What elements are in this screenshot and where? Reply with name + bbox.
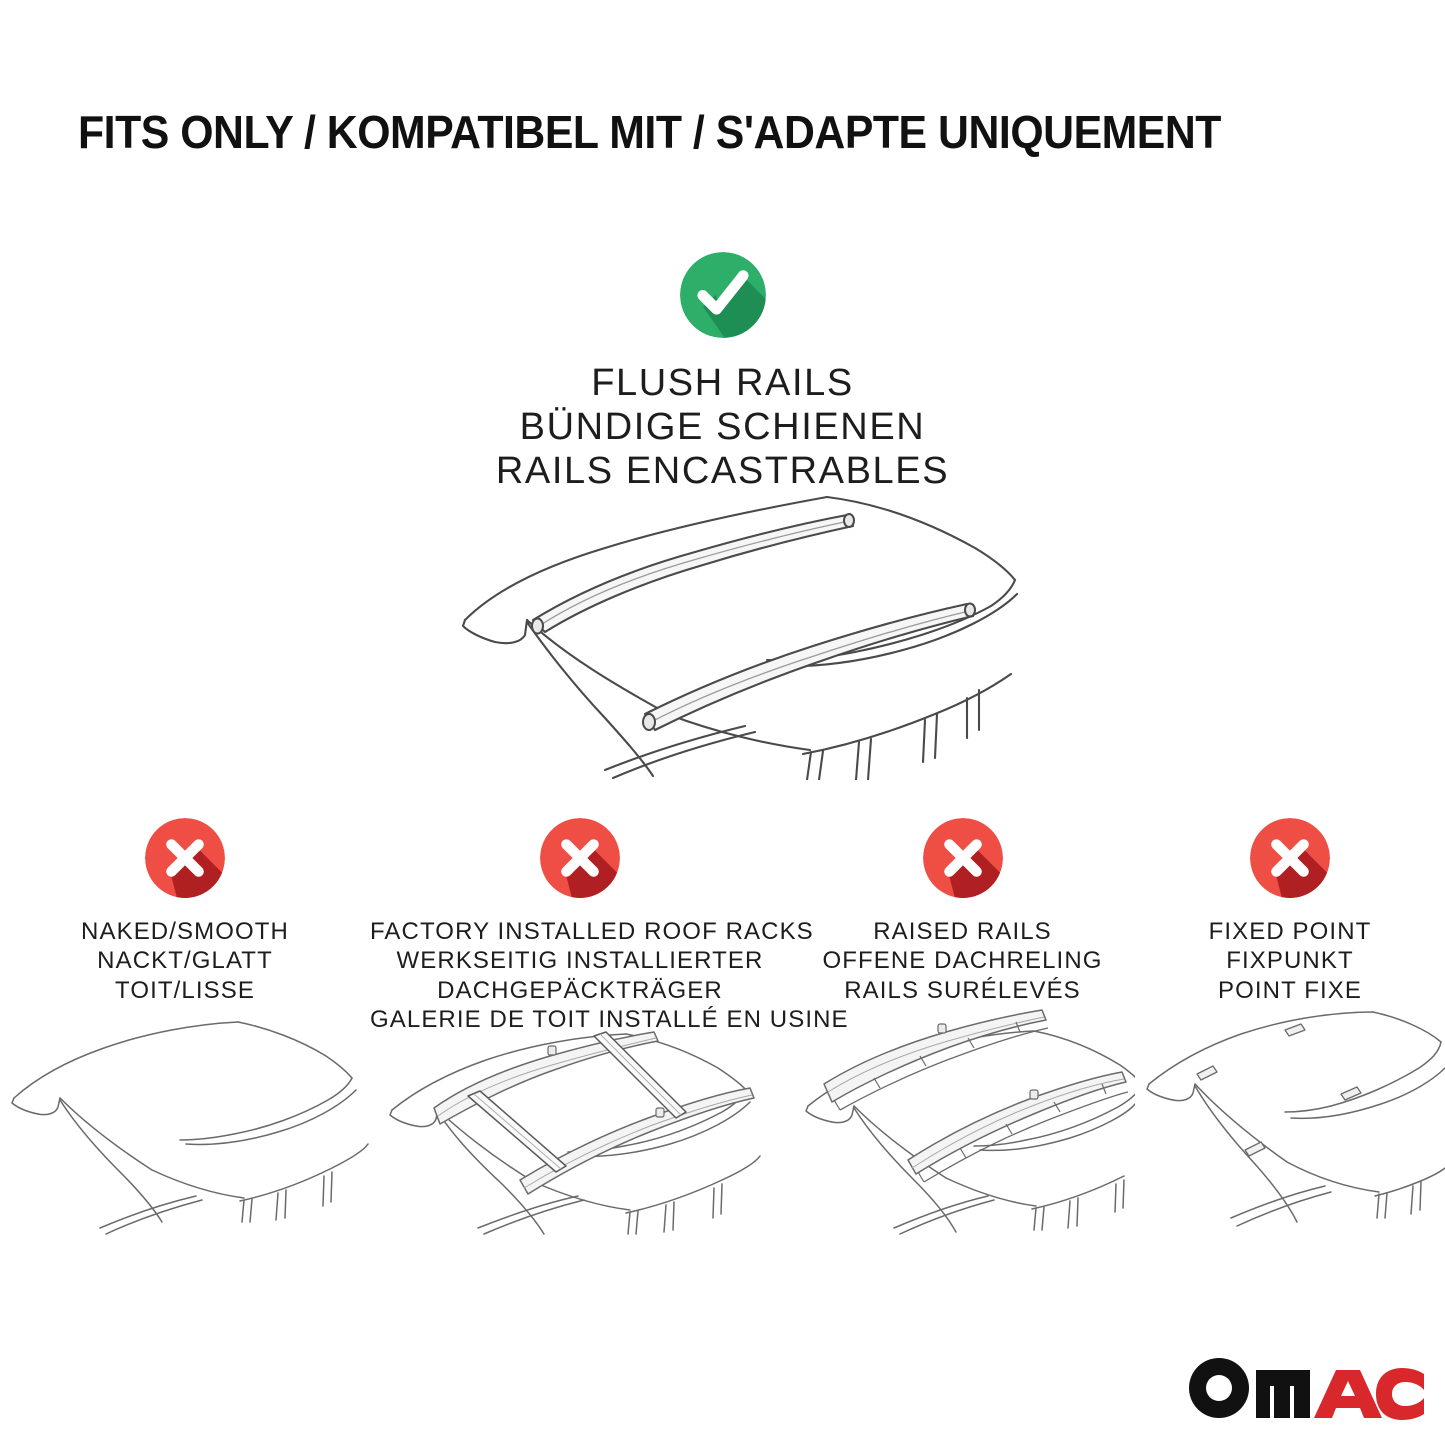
fixed-point-pad <box>1197 1066 1217 1080</box>
incompatible-label-en: NAKED/SMOOTH <box>0 917 370 946</box>
incompatible-label-de-1: WERKSEITIG INSTALLIERTER <box>370 946 790 975</box>
car-roof-bare-illustration <box>0 1000 370 1235</box>
incompatible-item-fixed-point: FIXED POINT FIXPUNKT POINT FIXE <box>1135 818 1445 1005</box>
incompatible-item-naked-smooth: NAKED/SMOOTH NACKT/GLATT TOIT/LISSE <box>0 818 370 1005</box>
logo-letter-c <box>1376 1368 1424 1420</box>
compatible-section: FLUSH RAILS BÜNDIGE SCHIENEN RAILS ENCAS… <box>0 252 1445 493</box>
logo-letter-o <box>1189 1358 1249 1418</box>
logo-letter-a <box>1314 1370 1382 1418</box>
incompatible-label-en: FIXED POINT <box>1135 917 1445 946</box>
compatible-label-de: BÜNDIGE SCHIENEN <box>0 405 1445 449</box>
x-circle-icon <box>540 818 620 898</box>
x-circle-icon <box>1250 818 1330 898</box>
fixed-point-pad <box>1285 1024 1305 1036</box>
fixed-point-pad <box>1245 1142 1265 1156</box>
x-circle-icon <box>145 818 225 898</box>
page-title: FITS ONLY / KOMPATIBEL MIT / S'ADAPTE UN… <box>78 108 1287 156</box>
incompatible-label-de: FIXPUNKT <box>1135 946 1445 975</box>
car-roof-with-raised-rails-illustration <box>790 1000 1135 1235</box>
incompatible-label-en: RAISED RAILS <box>790 917 1135 946</box>
car-roof-with-crossbars-illustration <box>370 1000 790 1235</box>
logo-letter-m <box>1256 1370 1310 1418</box>
check-circle-icon <box>680 252 766 338</box>
x-circle-icon <box>923 818 1003 898</box>
incompatible-label-en: FACTORY INSTALLED ROOF RACKS <box>370 917 790 946</box>
omac-logo <box>1186 1352 1426 1422</box>
compatible-label-en: FLUSH RAILS <box>0 361 1445 405</box>
compatibility-infographic: FITS ONLY / KOMPATIBEL MIT / S'ADAPTE UN… <box>0 0 1445 1445</box>
incompatible-item-raised-rails: RAISED RAILS OFFENE DACHRELING RAILS SUR… <box>790 818 1135 1005</box>
incompatible-labels: FIXED POINT FIXPUNKT POINT FIXE <box>1135 917 1445 1005</box>
incompatible-label-de: OFFENE DACHRELING <box>790 946 1135 975</box>
car-roof-with-fixed-points-illustration <box>1135 1000 1445 1235</box>
incompatible-labels: RAISED RAILS OFFENE DACHRELING RAILS SUR… <box>790 917 1135 1005</box>
car-roof-with-flush-rails-illustration <box>455 470 1025 780</box>
incompatible-label-de: NACKT/GLATT <box>0 946 370 975</box>
incompatible-labels: NAKED/SMOOTH NACKT/GLATT TOIT/LISSE <box>0 917 370 1005</box>
incompatible-illustrations <box>0 1000 1445 1235</box>
